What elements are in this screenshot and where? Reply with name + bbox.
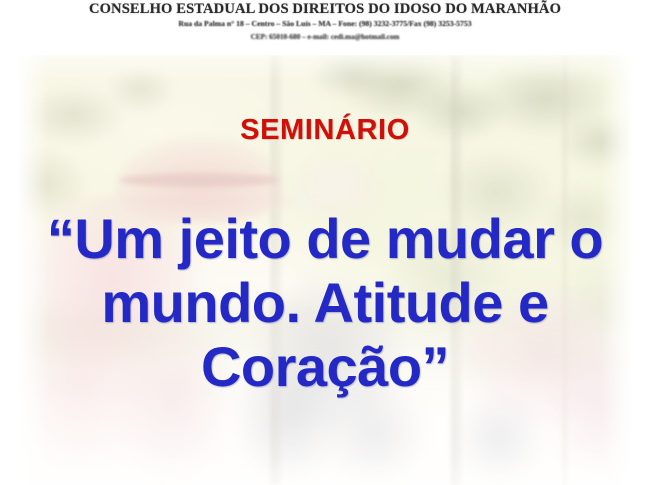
organization-name: CONSELHO ESTADUAL DOS DIREITOS DO IDOSO … <box>0 1 650 17</box>
background-photograph <box>18 55 632 485</box>
address-and-phone-line: Rua da Palma n° 18 – Centro – São Luís –… <box>0 17 650 31</box>
letterhead-header: CONSELHO ESTADUAL DOS DIREITOS DO IDOSO … <box>0 0 650 52</box>
photo-edge-vignette <box>18 55 632 485</box>
flyer-slide: CONSELHO ESTADUAL DOS DIREITOS DO IDOSO … <box>0 0 650 485</box>
cep-and-email-line: CEP: 65010-680 – e-mail: cedi.ma@hotmail… <box>0 31 650 44</box>
